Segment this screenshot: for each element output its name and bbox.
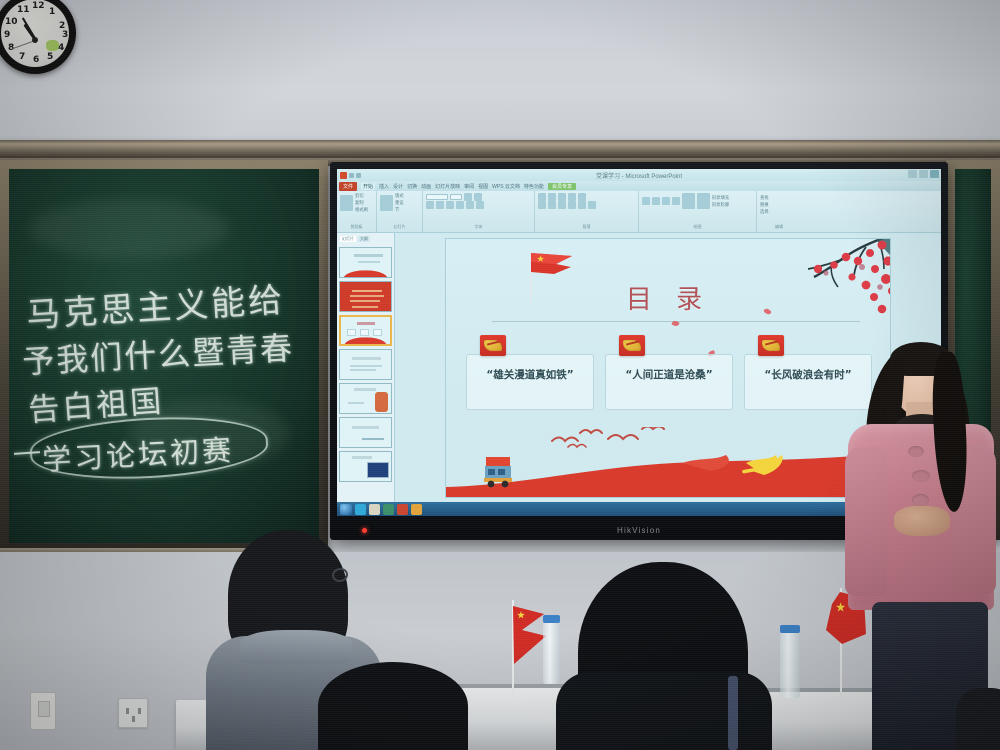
thumbnail-pane-tabs[interactable]: 幻灯片 大纲: [339, 235, 392, 244]
slide-thumbnail-selected[interactable]: 3: [339, 315, 392, 346]
ribbon-group-label: 剪贴板: [340, 224, 373, 230]
tab-view[interactable]: 视图: [478, 183, 488, 190]
slide-thumbnail[interactable]: 5: [339, 383, 392, 414]
font-name-box[interactable]: [426, 194, 448, 200]
decrease-indent-icon[interactable]: [558, 193, 566, 201]
ribbon-group-clipboard[interactable]: 剪切 复制 格式刷 剪贴板: [337, 191, 377, 232]
increase-indent-icon[interactable]: [568, 193, 576, 201]
bold-icon[interactable]: [426, 201, 434, 209]
ribbon-group-font[interactable]: 字体: [423, 191, 535, 232]
redo-icon[interactable]: [356, 173, 361, 178]
thumb-line: [350, 369, 376, 371]
display-power-led: [362, 528, 367, 533]
thumb-title-bar: [354, 388, 376, 391]
clock-face: 12 1 2 3 4 5 6 7 8 9 10 11: [1, 0, 69, 67]
justify-icon[interactable]: [568, 201, 576, 209]
contents-card-label: “人间正道是沧桑”: [625, 367, 712, 382]
clock-numeral: 5: [47, 52, 53, 62]
thumb-card: [373, 329, 382, 336]
current-slide[interactable]: 目 录 “雄关漫道真如铁”: [446, 239, 890, 497]
wps-icon[interactable]: [397, 504, 408, 515]
bag-strap: [728, 676, 738, 750]
thumb-card: [347, 329, 356, 336]
party-emblem-icon: [758, 335, 784, 356]
contents-card-box[interactable]: “人间正道是沧桑”: [605, 354, 733, 410]
contents-card[interactable]: “长风破浪会有时”: [744, 335, 872, 410]
clock-numeral: 6: [33, 55, 39, 65]
format-painter-label[interactable]: 格式刷: [355, 207, 368, 213]
ribbon-group-drawing[interactable]: 形状填充 形状轮廓 绘图: [639, 191, 757, 232]
contents-card-row: “雄关漫道真如铁” “人间正道是沧桑”: [466, 335, 872, 410]
thumb-line: [348, 402, 364, 404]
classroom-scene: 12 1 2 3 4 5 6 7 8 9 10 11 马克思主义能给 予我们什么…: [0, 0, 1000, 750]
new-slide-icon[interactable]: [380, 195, 393, 211]
slide-thumbnail[interactable]: 6: [339, 417, 392, 448]
ribbon-group-label: 字体: [426, 224, 531, 230]
shape-fill-label[interactable]: 形状填充: [712, 195, 729, 201]
strikethrough-icon[interactable]: [466, 201, 474, 209]
contents-card[interactable]: “人间正道是沧桑”: [605, 335, 733, 410]
tab-insert[interactable]: 插入: [379, 183, 389, 190]
italic-icon[interactable]: [436, 201, 444, 209]
contents-card[interactable]: “雄关漫道真如铁”: [466, 335, 594, 410]
paste-icon[interactable]: [340, 195, 353, 211]
close-button[interactable]: [930, 170, 939, 178]
clock-numeral: 11: [17, 5, 30, 15]
select-label[interactable]: 选择: [760, 209, 798, 215]
ribbon-group-label: 幻灯片: [380, 224, 419, 230]
ribbon-group-label: 段落: [538, 224, 635, 230]
thumb-card: [360, 329, 369, 336]
slide-thumbnail[interactable]: 1: [339, 247, 392, 278]
tab-membership[interactable]: 会员专享: [548, 183, 576, 190]
shape-line-icon[interactable]: [672, 197, 680, 205]
pane-tab-outline[interactable]: 大纲: [358, 236, 370, 242]
replace-label[interactable]: 替换: [760, 202, 798, 208]
thumb-line: [352, 306, 378, 308]
audience-shoulders: [556, 672, 772, 750]
window-controls[interactable]: [908, 170, 939, 178]
shape-arrow-icon[interactable]: [662, 197, 670, 205]
grow-font-icon[interactable]: [464, 193, 472, 201]
align-center-icon[interactable]: [548, 201, 556, 209]
section-label[interactable]: 节: [395, 207, 404, 213]
start-button[interactable]: [340, 504, 352, 515]
thumb-line: [350, 300, 380, 302]
ppt-title-bar: 党课学习 - Microsoft PowerPoint: [337, 169, 941, 181]
thumb-figure: [375, 392, 388, 412]
thumb-wave: [340, 269, 391, 277]
thumb-title-bar: [352, 426, 379, 429]
water-bottle-right: [780, 632, 800, 698]
jacket-frog-knot: [912, 494, 929, 506]
shadow-icon[interactable]: [456, 201, 464, 209]
slide-thumbnail[interactable]: 2: [339, 281, 392, 312]
display-brand-label: HikVision: [617, 526, 661, 535]
columns-icon[interactable]: [578, 201, 586, 209]
align-right-icon[interactable]: [558, 201, 566, 209]
minimize-button[interactable]: [908, 170, 917, 178]
layout-label[interactable]: 版式: [395, 193, 404, 199]
contents-card-box[interactable]: “雄关漫道真如铁”: [466, 354, 594, 410]
tab-animations[interactable]: 动画: [421, 183, 431, 190]
thumb-image: [367, 462, 389, 478]
clock-center-pin: [32, 37, 38, 43]
numbering-icon[interactable]: [548, 193, 556, 201]
clock-numeral: 3: [62, 30, 68, 40]
tab-design[interactable]: 设计: [393, 183, 403, 190]
ribbon-group-slides[interactable]: 版式 重设 节 幻灯片: [377, 191, 423, 232]
upper-wall: [0, 0, 1000, 150]
pane-tab-slides[interactable]: 幻灯片: [340, 236, 356, 242]
underline-icon[interactable]: [446, 201, 454, 209]
explorer-icon[interactable]: [369, 504, 380, 515]
tab-home[interactable]: 开始: [361, 183, 375, 190]
clock-numeral: 1: [49, 7, 55, 17]
mountain-illustration: [482, 455, 520, 489]
water-bottle-left: [543, 622, 560, 684]
find-label[interactable]: 查找: [760, 195, 798, 201]
slide-title: 目 录: [446, 279, 890, 316]
app-icon[interactable]: [411, 504, 422, 515]
save-icon[interactable]: [340, 172, 347, 179]
ribbon-group-label: 编辑: [760, 224, 798, 230]
ribbon-group-label: 绘图: [642, 224, 753, 230]
bottle-cap: [780, 625, 800, 633]
thumb-line: [352, 290, 382, 292]
tab-special-features[interactable]: 特色功能: [524, 183, 544, 190]
ribbon-tab-strip[interactable]: 文件 开始 插入 设计 切换 动画 幻灯片放映 审阅 视图 WPS 云文档 特色…: [337, 181, 941, 191]
font-color-icon[interactable]: [476, 201, 484, 209]
presenter-sleeve-left: [845, 446, 887, 596]
shrink-font-icon[interactable]: [474, 193, 482, 201]
slide-thumbnail-pane[interactable]: 幻灯片 大纲 1 2: [337, 233, 395, 503]
thumb-title-bar: [352, 456, 372, 459]
ribbon-group-editing[interactable]: 查找 替换 选择 编辑: [757, 191, 801, 232]
tab-slideshow[interactable]: 幻灯片放映: [435, 183, 460, 190]
arrange-icon[interactable]: [682, 193, 695, 209]
browser-icon[interactable]: [355, 504, 366, 515]
tab-file[interactable]: 文件: [339, 182, 357, 191]
thumb-wave: [341, 336, 390, 344]
clock-numeral: 12: [32, 1, 45, 11]
jacket-frog-knot: [912, 470, 930, 482]
clock-numeral: 10: [5, 17, 18, 27]
thumb-line: [350, 295, 384, 297]
clock-sticker: [46, 40, 59, 51]
text-direction-icon[interactable]: [588, 201, 596, 209]
cut-label[interactable]: 剪切: [355, 193, 368, 199]
clock-numeral: 7: [19, 52, 25, 62]
shape-outline-label[interactable]: 形状轮廓: [712, 202, 729, 208]
thumb-line: [350, 365, 382, 367]
thumb-title-bar: [354, 254, 383, 257]
tab-transitions[interactable]: 切换: [407, 183, 417, 190]
bullets-icon[interactable]: [538, 193, 546, 201]
maximize-button[interactable]: [919, 170, 928, 178]
party-emblem-icon: [619, 335, 645, 356]
bottle-cap: [543, 615, 560, 623]
shape-rect-icon[interactable]: [642, 197, 650, 205]
presenter-hands: [894, 506, 950, 536]
quick-access-toolbar[interactable]: [340, 172, 361, 179]
slide-thumbnail[interactable]: 7: [339, 451, 392, 482]
ribbon-group-paragraph[interactable]: 段落: [535, 191, 639, 232]
ppt-title-text: 党课学习 - Microsoft PowerPoint: [596, 171, 682, 180]
quick-styles-icon[interactable]: [697, 193, 710, 209]
undo-icon[interactable]: [349, 173, 354, 178]
clock-numeral: 9: [4, 30, 10, 40]
contents-card-label: “雄关漫道真如铁”: [486, 367, 573, 382]
shape-oval-icon[interactable]: [652, 197, 660, 205]
reset-label[interactable]: 重设: [395, 200, 404, 206]
contents-card-box[interactable]: “长风破浪会有时”: [744, 354, 872, 410]
audience-head: [956, 688, 1000, 750]
audience-head: [318, 662, 468, 750]
copy-label[interactable]: 复制: [355, 200, 368, 206]
media-icon[interactable]: [383, 504, 394, 515]
slide-thumbnail[interactable]: 4: [339, 349, 392, 380]
contents-card-label: “长风破浪会有时”: [764, 367, 851, 382]
ribbon[interactable]: 剪切 复制 格式刷 剪贴板 版式 重设 节: [337, 191, 941, 233]
wall-switch[interactable]: [30, 692, 56, 730]
party-emblem-icon: [480, 335, 506, 356]
tab-review[interactable]: 审阅: [464, 183, 474, 190]
wall-outlet[interactable]: [118, 698, 148, 728]
thumb-line: [358, 261, 380, 263]
jacket-frog-knot: [908, 446, 924, 457]
line-spacing-icon[interactable]: [578, 193, 586, 201]
tab-cloud-docs[interactable]: WPS 云文档: [492, 183, 520, 190]
audience-collar: [240, 630, 352, 664]
thumb-title-bar: [357, 322, 375, 325]
font-size-box[interactable]: [450, 194, 462, 200]
thumb-line: [362, 438, 384, 440]
align-left-icon[interactable]: [538, 201, 546, 209]
thumb-title-bar: [352, 357, 381, 360]
